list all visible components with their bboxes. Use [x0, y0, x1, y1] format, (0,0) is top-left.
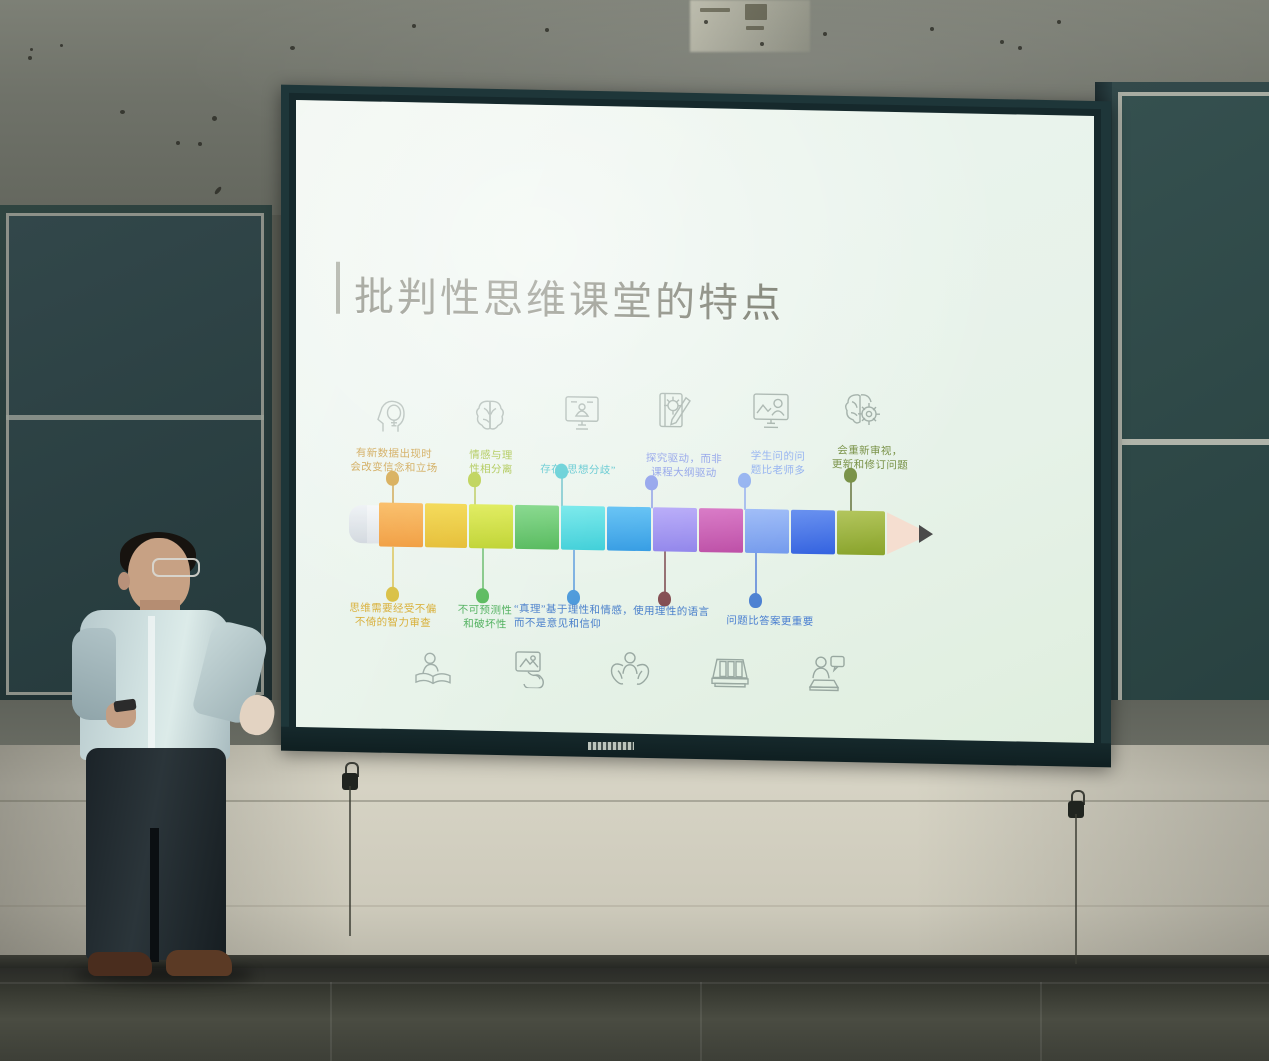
pencil-segment-6 [607, 506, 651, 551]
wall-speck [212, 116, 217, 121]
screen-brand-label [588, 742, 634, 750]
title-accent-rule [336, 262, 340, 314]
presenter [62, 532, 277, 1002]
connector-dot [749, 593, 762, 608]
padlock-cord [1075, 814, 1077, 964]
page-title: 批判性思维课堂的特点 [354, 264, 784, 330]
wall-speck [30, 48, 33, 51]
pencil-segment-8 [699, 508, 743, 553]
callout-label-bottom-5: 问题比答案更重要 [700, 614, 840, 631]
hands-person-icon [610, 649, 650, 688]
person-laptop-icon [808, 654, 846, 693]
slide-content: 批判性思维课堂的特点 [296, 101, 1094, 748]
pencil-segment-2 [425, 503, 467, 548]
wall-speck [28, 56, 32, 60]
floor-seam [330, 982, 332, 1061]
wall-speck [60, 44, 63, 47]
presenter-leg-gap [150, 828, 159, 962]
wall-speck [198, 142, 202, 146]
connector-dot [567, 590, 580, 605]
connector-dot [386, 471, 399, 486]
pencil-timeline-graphic [349, 502, 942, 556]
right-chalkboard-divider [1122, 439, 1269, 445]
wall-speck [1057, 20, 1061, 24]
callout-label-bottom-1: 思维需要经受不偏 不倚的智力审查 [330, 602, 456, 633]
connector-dot [645, 475, 658, 490]
poster-mark [746, 26, 764, 30]
presenter-right-shoe [166, 950, 232, 976]
wall-speck [930, 27, 934, 31]
connector-dot [476, 588, 489, 603]
left-chalkboard-divider [6, 415, 264, 420]
connector-stem [482, 548, 484, 592]
projection-screen: 批判性思维课堂的特点 [281, 85, 1111, 767]
connector-dot [844, 468, 857, 483]
presenter-ear [118, 572, 130, 590]
person-book-icon [414, 651, 452, 688]
poster-mark [700, 8, 730, 12]
hand-screen-icon [514, 650, 552, 689]
pencil-segment-5 [561, 506, 605, 551]
brain-gear-icon [844, 391, 880, 430]
callout-label-top-4: 探究驱动，而非 课程大纲驱动 [626, 452, 742, 482]
connector-stem [664, 551, 666, 595]
connector-stem [744, 486, 746, 510]
connector-dot [468, 472, 481, 487]
monitor-person-icon [752, 391, 790, 430]
presenter-shirt-placket [148, 616, 155, 756]
connector-stem [850, 481, 852, 512]
connector-stem [755, 553, 757, 597]
floor-seam [1040, 982, 1042, 1061]
connector-dot [658, 591, 671, 606]
pencil-segment-9 [745, 509, 789, 554]
notebook-pen-icon [658, 390, 692, 431]
wall-speck [120, 110, 125, 114]
wall-speck [290, 46, 295, 50]
right-chalkboard [1112, 82, 1269, 782]
poster-mark [745, 4, 767, 20]
presenter-left-shoe [88, 952, 152, 976]
connector-dot [555, 464, 568, 479]
floor-seam [700, 982, 702, 1061]
wall-speck [704, 20, 708, 24]
pencil-segment-7 [653, 507, 697, 552]
brain-icon [474, 397, 506, 432]
books-shelf-icon [710, 653, 750, 690]
pencil-segment-3 [469, 504, 513, 549]
pencil-segment-10 [791, 510, 835, 555]
connector-stem [561, 477, 563, 507]
padlock-cord [349, 786, 351, 936]
connector-stem [392, 547, 394, 591]
connector-stem [573, 550, 575, 594]
pencil-segment-4 [515, 505, 559, 550]
connector-dot [386, 587, 399, 602]
pencil-segment-11 [837, 510, 885, 555]
wall-speck [760, 42, 764, 46]
connector-stem [474, 485, 476, 505]
connector-dot [738, 473, 751, 488]
wall-speck [1018, 46, 1022, 50]
head-lightbulb-icon [374, 397, 408, 434]
classroom-photo: 批判性思维课堂的特点 [0, 0, 1269, 1061]
wall-speck [412, 24, 416, 28]
connector-stem [651, 488, 653, 508]
wall-speck [1000, 40, 1004, 44]
wall-speck [176, 141, 180, 145]
wall-speck [545, 28, 549, 32]
pencil-lead [919, 525, 933, 543]
wall-speck [823, 32, 827, 36]
glasses-icon [152, 558, 200, 577]
right-chalkboard-surface [1118, 92, 1269, 768]
pencil-ferrule [367, 505, 379, 543]
pencil-segment-1 [379, 502, 423, 547]
monitor-idea-icon [564, 394, 600, 433]
callout-label-top-3: 存在“思想分歧” [518, 463, 638, 479]
screen-surface: 批判性思维课堂的特点 [296, 100, 1094, 749]
callout-label-top-6: 会重新审视， 更新和修订问题 [812, 444, 928, 474]
connector-stem [392, 484, 394, 504]
